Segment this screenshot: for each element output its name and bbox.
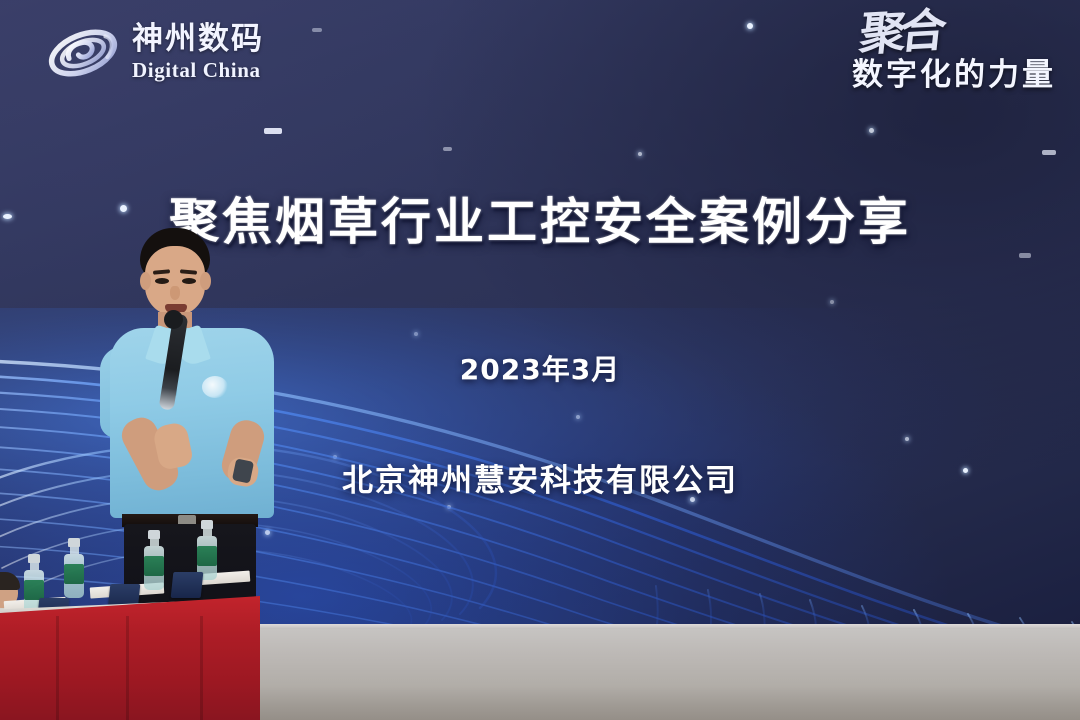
- name-placard: [171, 572, 204, 598]
- bottle-cap: [28, 554, 40, 563]
- speaker-nose: [170, 286, 180, 300]
- speaker-eye-left: [155, 278, 169, 284]
- bottle-neck: [30, 563, 39, 570]
- bottle-neck: [150, 539, 159, 546]
- conference-stage-photo: 神州数码 Digital China 聚合 数字化的力量 聚焦烟草行业工控安全案…: [0, 0, 1080, 720]
- water-bottle: [64, 538, 84, 598]
- speaker-person: [96, 228, 286, 620]
- bottle-cap: [68, 538, 80, 547]
- seated-attendee-hair: [0, 572, 20, 590]
- bottle-label: [144, 556, 164, 576]
- water-bottle: [144, 530, 164, 590]
- bottle-cap: [148, 530, 160, 539]
- digital-china-logo: 神州数码 Digital China: [44, 16, 264, 90]
- bottle-body: [64, 554, 84, 598]
- microphone-head: [164, 310, 183, 329]
- digital-china-wordmark: 神州数码 Digital China: [132, 24, 264, 83]
- event-logo: 聚合 数字化的力量: [852, 14, 1056, 94]
- speaker-eye-right: [182, 278, 196, 284]
- event-brush-title: 聚合: [858, 12, 943, 54]
- brand-name-chinese: 神州数码: [132, 24, 264, 55]
- bottle-neck: [70, 547, 79, 554]
- red-table-cloth: [0, 596, 260, 720]
- water-bottle: [197, 520, 217, 580]
- foreground-table: [0, 572, 264, 720]
- speaker-ear-right: [200, 272, 211, 290]
- bottle-neck: [203, 529, 212, 536]
- bottle-cap: [201, 520, 213, 529]
- bottle-body: [144, 546, 164, 590]
- bottle-label: [197, 546, 217, 566]
- brand-name-english: Digital China: [132, 60, 264, 81]
- speaker-shirt-logo: [202, 376, 228, 398]
- bottle-label: [24, 580, 44, 600]
- bottle-label: [64, 564, 84, 584]
- speaker-ear-left: [140, 272, 151, 290]
- digital-china-swirl-icon: [44, 16, 122, 90]
